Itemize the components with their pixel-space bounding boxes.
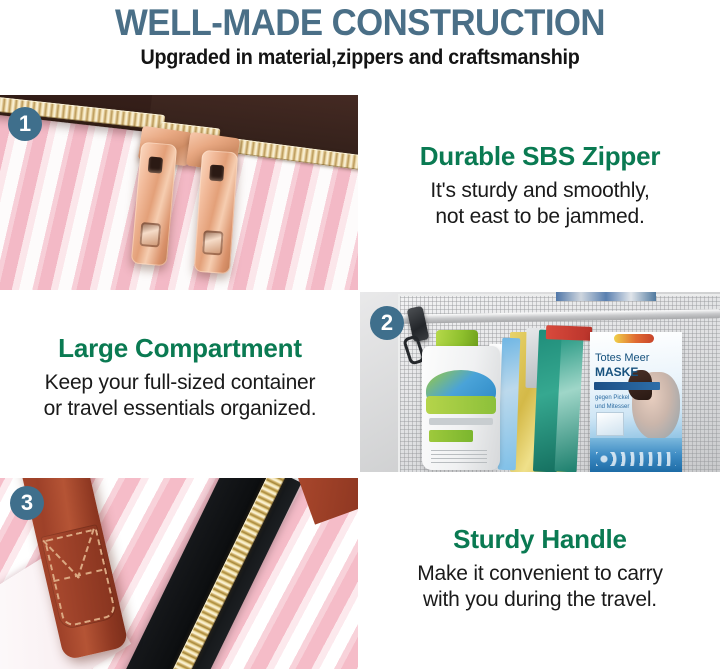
page-title: WELL-MADE CONSTRUCTION <box>22 2 699 44</box>
zipper-pull-window <box>202 230 224 255</box>
feature-heading-2: Large Compartment <box>0 334 360 363</box>
mask-subtext: gegen Pickel und Mitesser <box>595 394 629 412</box>
feature-heading-1: Durable SBS Zipper <box>360 142 720 171</box>
bottle-logo-band <box>426 396 496 414</box>
zipper-pull-eyelet <box>148 156 163 173</box>
pouch-top-strip <box>556 292 656 301</box>
feature-photo-zipper: 1 <box>0 95 358 290</box>
mask-foam-graphic <box>596 452 676 466</box>
feature-body-3-line2: with you during the travel. <box>360 587 720 614</box>
lotion-bottle <box>422 346 500 470</box>
feature-body-1-line1: It's sturdy and smoothly, <box>360 178 720 205</box>
mask-brand-line2: MASKE <box>595 365 679 379</box>
feature-body-3: Make it convenient to carry with you dur… <box>360 561 720 615</box>
mask-seal-icon <box>614 334 654 343</box>
feature-body-2: Keep your full-sized container or travel… <box>0 370 360 424</box>
feature-body-2-line2: or travel essentials organized. <box>0 396 360 423</box>
header: WELL-MADE CONSTRUCTION Upgraded in mater… <box>0 0 720 92</box>
feature-text-handle: Sturdy Handle Make it convenient to carr… <box>360 525 720 614</box>
feature-photo-handle: 3 <box>0 478 358 669</box>
feature-body-1-line2: not east to be jammed. <box>360 204 720 231</box>
mask-subtext-line2: und Mitesser <box>595 403 629 412</box>
infographic-page: WELL-MADE CONSTRUCTION Upgraded in mater… <box>0 0 720 669</box>
mask-inset-product-box <box>596 412 624 436</box>
page-subtitle: Upgraded in material,zippers and craftsm… <box>22 46 699 70</box>
feature-body-1: It's sturdy and smoothly, not east to be… <box>360 178 720 232</box>
feature-photo-compartment: Totes Meer MASKE gegen Pickel und Mitess… <box>360 292 720 472</box>
mask-brand-line1: Totes Meer <box>595 352 679 364</box>
zipper-pull-window <box>139 222 161 248</box>
feature-text-compartment: Large Compartment Keep your full-sized c… <box>0 334 360 423</box>
red-sachet-top <box>546 325 592 341</box>
zipper-pull-eyelet <box>209 164 224 181</box>
step-badge-1: 1 <box>8 107 42 141</box>
feature-body-2-line1: Keep your full-sized container <box>0 370 360 397</box>
feature-body-3-line1: Make it convenient to carry <box>360 561 720 588</box>
bottle-label-text-lines <box>431 447 487 463</box>
step-badge-2: 2 <box>370 306 404 340</box>
step-badge-3: 3 <box>10 486 44 520</box>
mask-intensity-band <box>594 382 660 390</box>
bottle-label-line <box>429 418 493 425</box>
bottle-label-badge <box>429 430 473 442</box>
mask-subtext-line1: gegen Pickel <box>595 394 629 403</box>
feature-heading-3: Sturdy Handle <box>360 525 720 554</box>
face-mask-package: Totes Meer MASKE gegen Pickel und Mitess… <box>590 332 682 472</box>
feature-text-zipper: Durable SBS Zipper It's sturdy and smoot… <box>360 142 720 231</box>
